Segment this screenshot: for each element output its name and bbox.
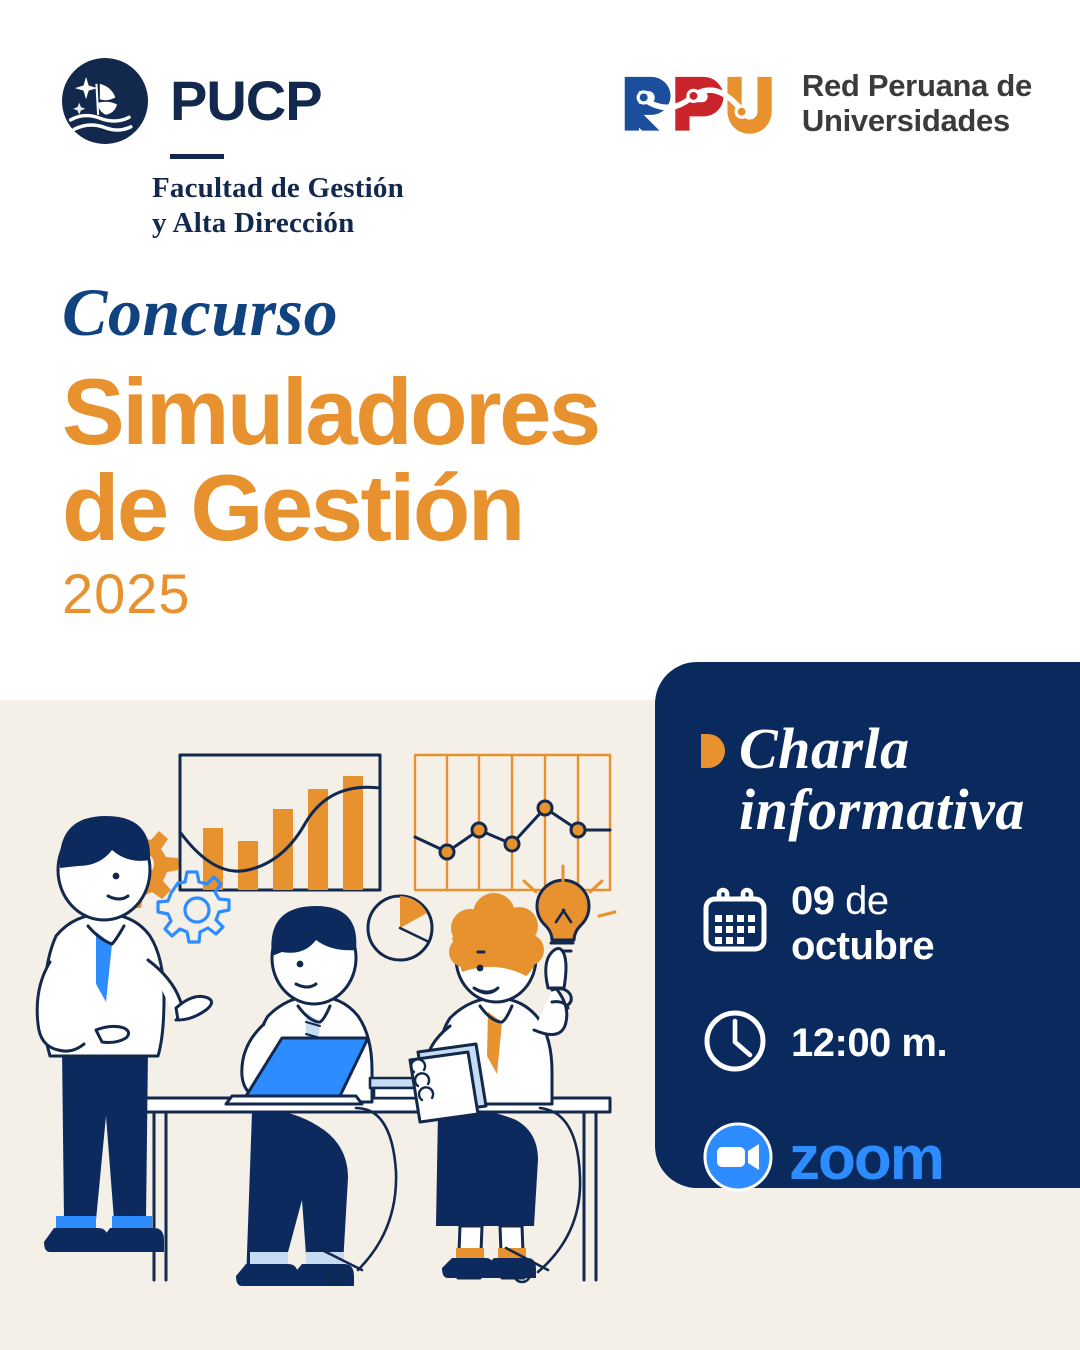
- person-laptop: [226, 906, 418, 1286]
- zoom-row[interactable]: zoom: [701, 1120, 1080, 1199]
- heading-bullet-icon: [701, 734, 725, 768]
- headline-title-line2: de Gestión: [62, 460, 762, 556]
- pucp-caravel-icon: [62, 58, 148, 144]
- headline-title-line1: Simuladores: [62, 364, 762, 460]
- rpu-monogram-icon: [620, 72, 778, 134]
- person-clipboard: [410, 893, 571, 1278]
- desk: [140, 1098, 610, 1280]
- card-heading-line2: informativa: [739, 779, 1025, 840]
- time-row: 12:00 m.: [701, 1007, 1080, 1080]
- pucp-logo: PUCP Facultad de Gestión y Alta Direcció…: [62, 58, 482, 242]
- zoom-camera-icon[interactable]: [701, 1120, 775, 1199]
- headline-year: 2025: [62, 566, 762, 622]
- date-row: 09 de octubre: [701, 879, 1080, 969]
- pucp-faculty-line1: Facultad de Gestión: [152, 171, 482, 206]
- date-day: 09: [791, 879, 835, 923]
- gear-blue: [158, 872, 229, 942]
- pucp-faculty-line2: y Alta Dirección: [152, 206, 482, 241]
- card-heading-line1: Charla: [739, 718, 1025, 779]
- card-heading-text: Charla informativa: [739, 718, 1025, 841]
- zoom-wordmark[interactable]: zoom: [789, 1128, 943, 1190]
- line-chart: [415, 755, 610, 890]
- clock-icon: [701, 1007, 769, 1080]
- date-connector: de: [845, 879, 889, 923]
- info-card: Charla informativa: [655, 662, 1080, 1188]
- card-heading: Charla informativa: [701, 718, 1080, 841]
- time-text: 12:00 m.: [791, 1021, 947, 1066]
- date-text: 09 de octubre: [791, 879, 934, 969]
- pie-chart: [368, 896, 432, 960]
- headline-title: Simuladores de Gestión: [62, 364, 762, 556]
- calendar-icon: [701, 887, 769, 960]
- pucp-faculty-name: Facultad de Gestión y Alta Dirección: [152, 171, 482, 242]
- logo-row: PUCP Facultad de Gestión y Alta Direcció…: [0, 0, 1080, 240]
- rpu-name-line1: Red Peruana de: [802, 68, 1032, 103]
- pucp-divider: [170, 154, 224, 159]
- bar-chart: [180, 755, 380, 890]
- pucp-wordmark: PUCP: [170, 74, 322, 127]
- headline-kicker: Concurso: [62, 278, 762, 346]
- poster-root: PUCP Facultad de Gestión y Alta Direcció…: [0, 0, 1080, 1350]
- rpu-name: Red Peruana de Universidades: [802, 68, 1032, 139]
- date-month: octubre: [791, 924, 934, 969]
- illustration-scene: [0, 700, 680, 1300]
- rpu-logo: Red Peruana de Universidades: [620, 68, 1032, 139]
- rpu-name-line2: Universidades: [802, 103, 1032, 138]
- headline-block: Concurso Simuladores de Gestión 2025: [62, 278, 762, 622]
